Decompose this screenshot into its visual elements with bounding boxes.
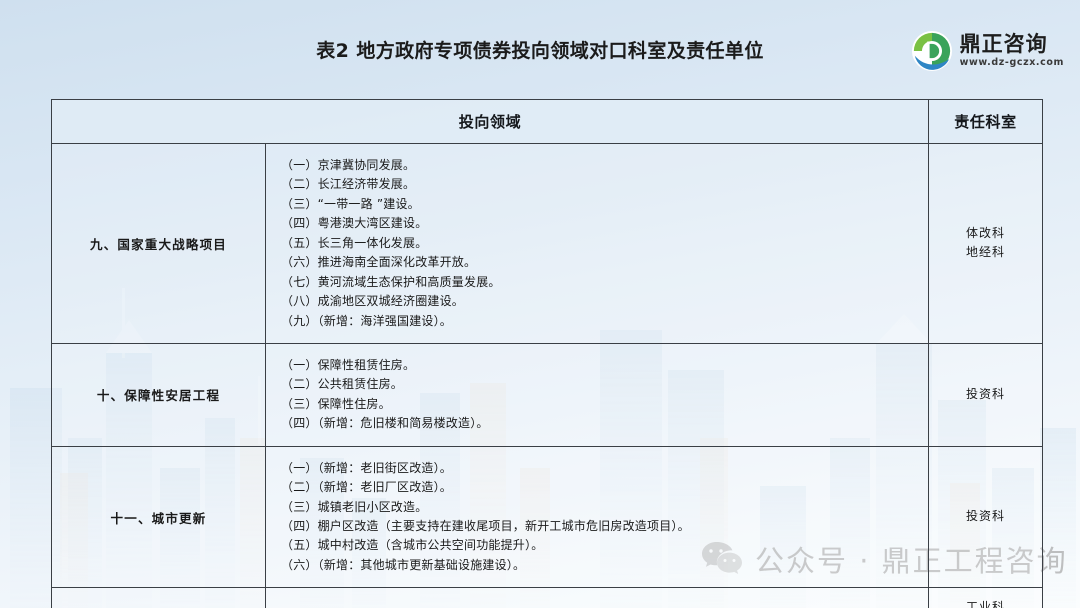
dz-circular-logo-icon xyxy=(911,30,953,72)
list-item: （三）“一带一路 ”建设。 xyxy=(281,195,928,214)
department-name: 投资科 xyxy=(931,507,1040,527)
row-items: （一）保障性租赁住房。 （二）公共租赁住房。 （三）保障性住房。 （四）（新增：… xyxy=(266,343,929,446)
list-item: （九）（新增：海洋强国建设）。 xyxy=(281,312,928,331)
row-department: 投资科 xyxy=(929,343,1043,446)
brand-name: 鼎正咨询 xyxy=(960,33,1064,56)
list-item: （四）棚户区改造（主要支持在建收尾项目，新开工城市危旧房改造项目）。 xyxy=(281,517,928,536)
list-item: （二）（新增：老旧厂区改造）。 xyxy=(281,478,928,497)
row-category: 十、保障性安居工程 xyxy=(52,343,266,446)
list-item: （五）长三角一体化发展。 xyxy=(281,234,928,253)
list-item: （三）城镇老旧小区改造。 xyxy=(281,498,928,517)
list-item: （一）京津冀协同发展。 xyxy=(281,156,928,175)
department-name: 地经科 xyxy=(931,243,1040,263)
table-head: 投向领域 责任科室 xyxy=(52,100,1043,144)
list-item: （八）成渝地区双城经济圈建设。 xyxy=(281,292,928,311)
table-row: 十、保障性安居工程 （一）保障性租赁住房。 （二）公共租赁住房。 （三）保障性住… xyxy=(52,343,1043,446)
list-item: （二）长江经济带发展。 xyxy=(281,175,928,194)
list-item: （四）（新增：危旧楼和简易楼改造）。 xyxy=(281,414,928,433)
row-department: 投资科 xyxy=(929,446,1043,588)
row-items: （一）符合国家产业政策的重大集成电路产线及配套基础设施。 xyxy=(266,588,929,608)
list-item: （六）（新增：其他城市更新基础设施建设）。 xyxy=(281,556,928,575)
table-header-row: 投向领域 责任科室 xyxy=(52,100,1043,144)
list-item: （五）城中村改造（含城市公共空间功能提升）。 xyxy=(281,536,928,555)
table-row: 十一、城市更新 （一）（新增：老旧街区改造）。 （二）（新增：老旧厂区改造）。 … xyxy=(52,446,1043,588)
department-name: 体改科 xyxy=(931,224,1040,244)
table-container: 投向领域 责任科室 九、国家重大战略项目 （一）京津冀协同发展。 （二）长江经济… xyxy=(51,99,1042,608)
column-header-department: 责任科室 xyxy=(929,100,1043,144)
department-name: 工业科 xyxy=(931,598,1040,608)
row-items: （一）京津冀协同发展。 （二）长江经济带发展。 （三）“一带一路 ”建设。 （四… xyxy=(266,144,929,344)
list-item: （一）保障性租赁住房。 xyxy=(281,356,928,375)
list-item: （三）保障性住房。 xyxy=(281,395,928,414)
table-body: 九、国家重大战略项目 （一）京津冀协同发展。 （二）长江经济带发展。 （三）“一… xyxy=(52,144,1043,608)
column-header-field: 投向领域 xyxy=(52,100,929,144)
list-item: （七）黄河流域生态保护和高质量发展。 xyxy=(281,273,928,292)
brand-text: 鼎正咨询 www.dz-gczx.com xyxy=(960,33,1064,68)
row-department: 体改科 地经科 xyxy=(929,144,1043,344)
row-category: 九、国家重大战略项目 xyxy=(52,144,266,344)
row-category: 十二、特殊重大项目 xyxy=(52,588,266,608)
table-row: 十二、特殊重大项目 （一）符合国家产业政策的重大集成电路产线及配套基础设施。 工… xyxy=(52,588,1043,608)
table-row: 九、国家重大战略项目 （一）京津冀协同发展。 （二）长江经济带发展。 （三）“一… xyxy=(52,144,1043,344)
list-item: （一）（新增：老旧街区改造）。 xyxy=(281,459,928,478)
page-header: 表2 地方政府专项债券投向领域对口科室及责任单位 鼎正咨询 www.dz-gcz… xyxy=(0,0,1080,92)
row-department: 工业科 能源科 xyxy=(929,588,1043,608)
policy-table: 投向领域 责任科室 九、国家重大战略项目 （一）京津冀协同发展。 （二）长江经济… xyxy=(51,99,1043,608)
row-category: 十一、城市更新 xyxy=(52,446,266,588)
list-item: （四）粤港澳大湾区建设。 xyxy=(281,214,928,233)
department-name: 投资科 xyxy=(931,385,1040,405)
list-item: （二）公共租赁住房。 xyxy=(281,375,928,394)
brand-url: www.dz-gczx.com xyxy=(960,57,1064,68)
row-items: （一）（新增：老旧街区改造）。 （二）（新增：老旧厂区改造）。 （三）城镇老旧小… xyxy=(266,446,929,588)
list-item: （六）推进海南全面深化改革开放。 xyxy=(281,253,928,272)
brand-logo: 鼎正咨询 www.dz-gczx.com xyxy=(911,28,1064,74)
